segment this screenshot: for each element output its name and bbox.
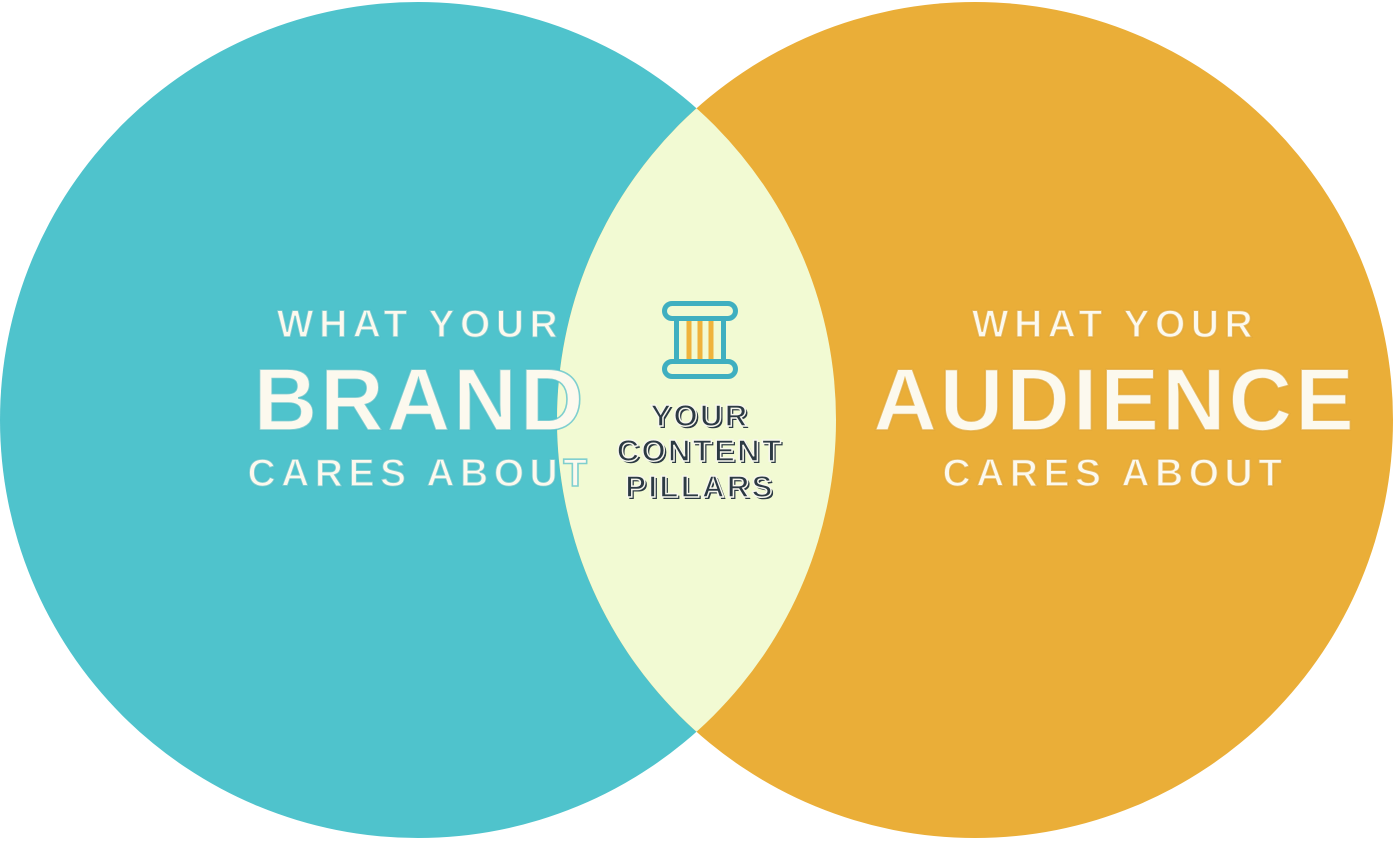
audience-line-main-text: AUDIENCE — [873, 350, 1357, 449]
pillars-line-2: CONTENT CONTENT — [570, 433, 830, 468]
audience-line-top-text: WHAT YOUR — [972, 303, 1258, 346]
pillars-line-1-text: YOUR — [650, 398, 749, 433]
pillars-line-3: PILLARS PILLARS — [570, 469, 830, 504]
pillars-line-2-text: CONTENT — [617, 433, 784, 468]
content-pillars-group[interactable]: YOUR YOUR CONTENT CONTENT PILLARS PILLAR… — [570, 300, 830, 504]
audience-label-group: WHAT YOUR WHAT YOUR AUDIENCE AUDIENCE CA… — [815, 305, 1400, 493]
venn-diagram: WHAT YOUR WHAT YOUR BRAND BRAND CARES AB… — [0, 0, 1400, 842]
brand-line-top-text: WHAT YOUR — [277, 303, 563, 346]
audience-line-bottom: CARES ABOUT CARES ABOUT — [815, 454, 1400, 493]
audience-line-top: WHAT YOUR WHAT YOUR — [815, 305, 1400, 344]
audience-line-bottom-text: CARES ABOUT — [942, 452, 1287, 495]
pillar-column-icon — [657, 300, 743, 380]
pillar-capital — [665, 304, 736, 319]
pillars-line-1: YOUR YOUR — [570, 398, 830, 433]
pillars-line-3-text: PILLARS — [625, 469, 774, 504]
audience-line-main: AUDIENCE AUDIENCE — [815, 356, 1400, 444]
brand-line-main-text: BRAND — [254, 350, 587, 449]
brand-line-bottom-text: CARES ABOUT — [247, 452, 592, 495]
content-pillars-label: YOUR YOUR CONTENT CONTENT PILLARS PILLAR… — [570, 398, 830, 504]
pillar-base — [665, 362, 736, 377]
